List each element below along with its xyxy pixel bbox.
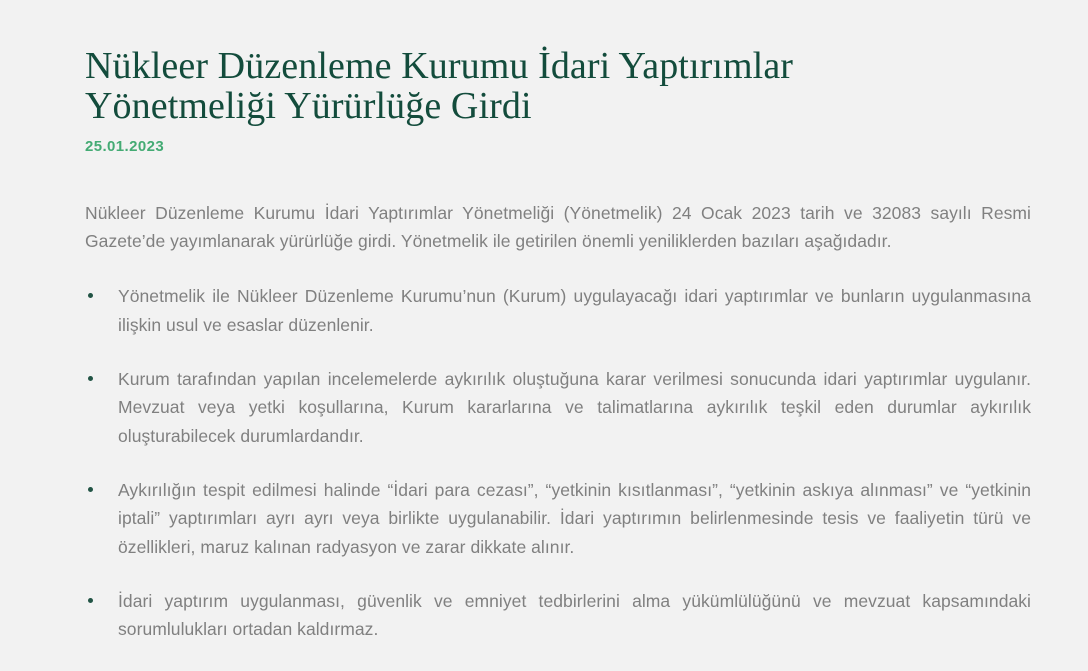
bullet-dot-icon [88,376,93,381]
bullet-dot-icon [88,598,93,603]
article-body: Nükleer Düzenleme Kurumu İdari Yaptırıml… [85,199,1031,644]
bullet-dot-icon [88,487,93,492]
list-item-text: İdari yaptırım uygulanması, güvenlik ve … [118,591,1031,639]
list-item-text: Kurum tarafından yapılan incelemelerde a… [118,369,1031,446]
publish-date: 25.01.2023 [85,138,1031,155]
list-item: Kurum tarafından yapılan incelemelerde a… [85,365,1031,450]
list-item: Aykırılığın tespit edilmesi halinde “İda… [85,476,1031,561]
list-item-text: Aykırılığın tespit edilmesi halinde “İda… [118,480,1031,557]
article-container: Nükleer Düzenleme Kurumu İdari Yaptırıml… [85,46,1031,644]
article-page: Nükleer Düzenleme Kurumu İdari Yaptırıml… [0,0,1088,671]
list-item: İdari yaptırım uygulanması, güvenlik ve … [85,587,1031,644]
list-item-text: Yönetmelik ile Nükleer Düzenleme Kurumu’… [118,286,1031,334]
list-item: Yönetmelik ile Nükleer Düzenleme Kurumu’… [85,282,1031,339]
bullet-dot-icon [88,293,93,298]
intro-paragraph: Nükleer Düzenleme Kurumu İdari Yaptırıml… [85,199,1031,256]
highlights-list: Yönetmelik ile Nükleer Düzenleme Kurumu’… [85,282,1031,643]
page-title: Nükleer Düzenleme Kurumu İdari Yaptırıml… [85,46,1031,127]
